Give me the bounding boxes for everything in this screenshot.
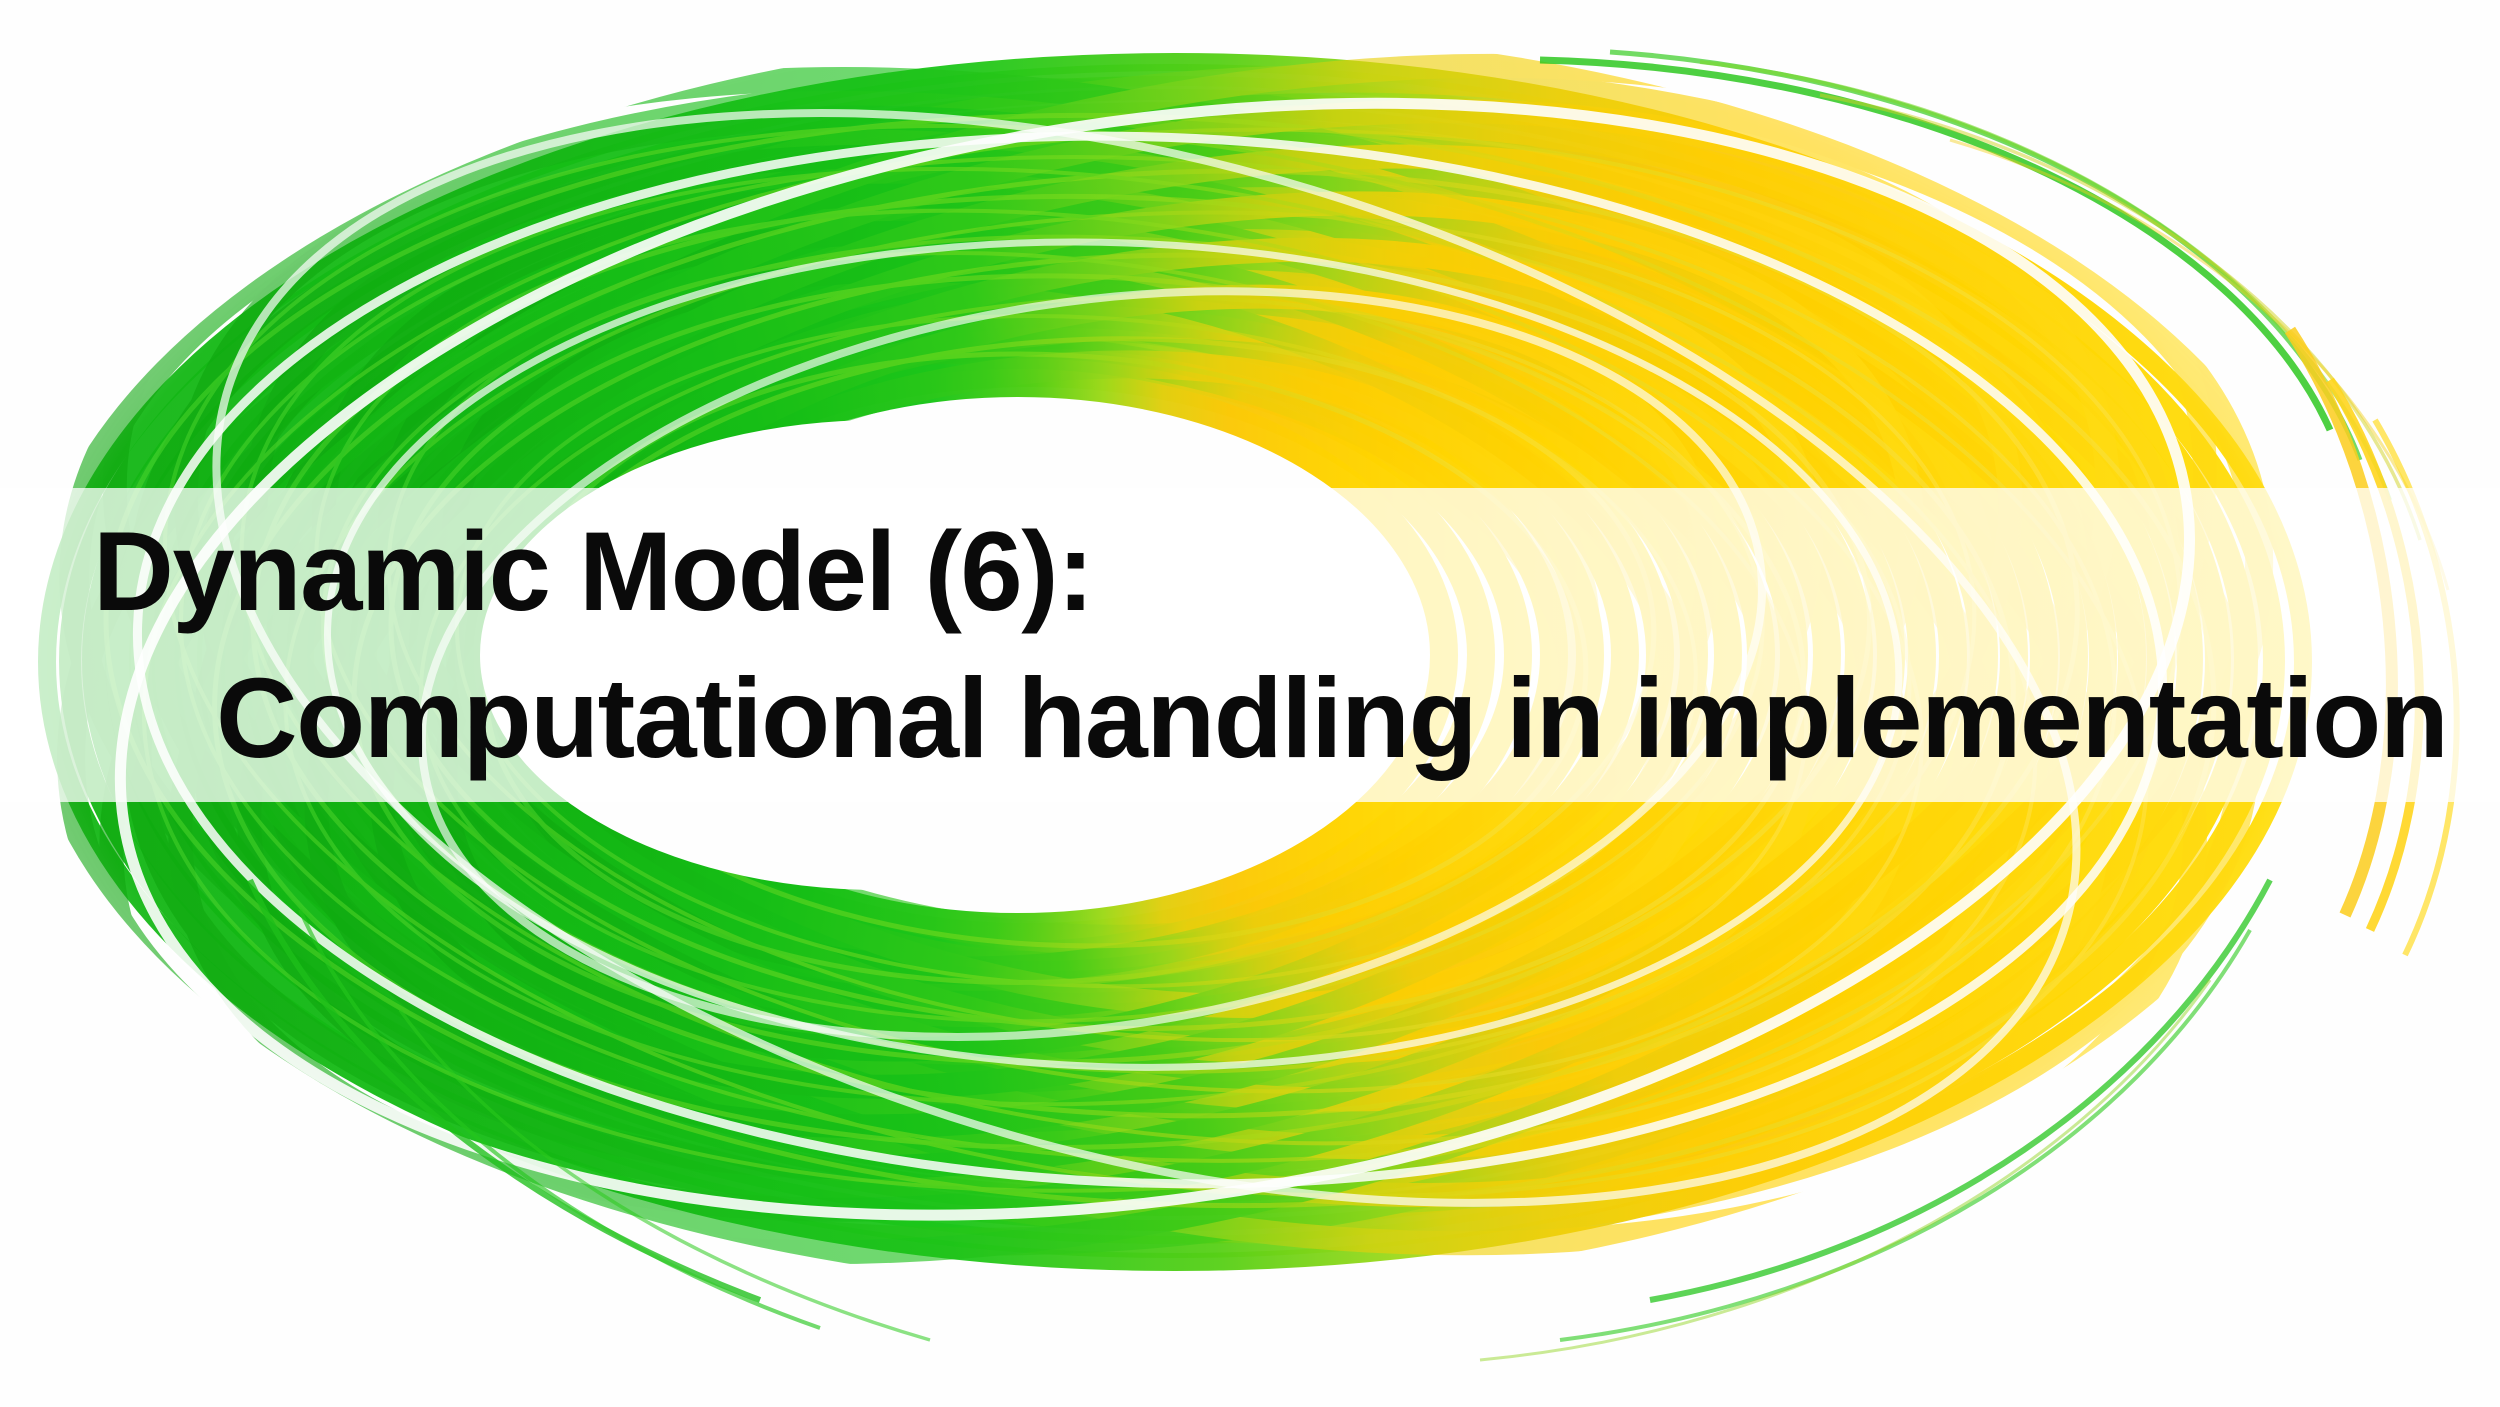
slide-title-block: Dynamic Model (6): Computational handlin… — [0, 488, 2500, 802]
slide-title-line-1: Dynamic Model (6): — [93, 516, 2500, 628]
slide-canvas: Dynamic Model (6): Computational handlin… — [0, 0, 2500, 1407]
slide-title-line-2: Computational handling in implementation — [216, 662, 2500, 775]
